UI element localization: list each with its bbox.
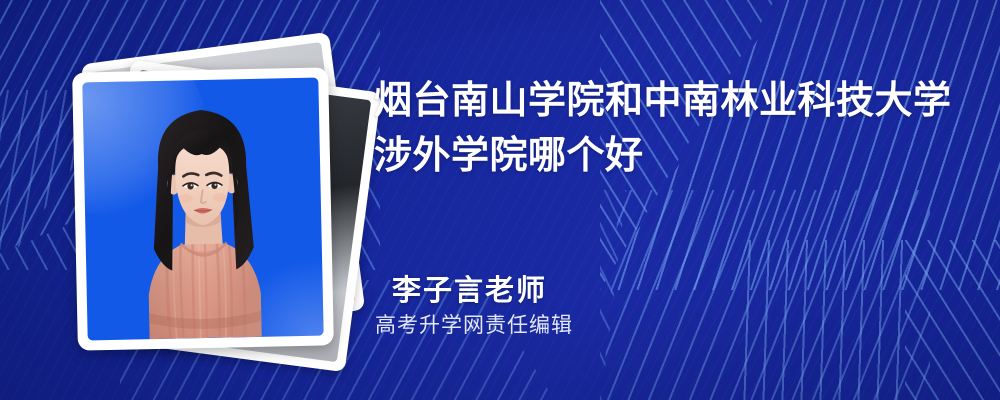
photo-card-front [72,67,334,350]
photo-card-stack [60,45,350,355]
portrait-illustration [82,78,323,341]
page-title: 烟台南山学院和中南林业科技大学 涉外学院哪个好 [374,74,964,184]
author-role: 高考升学网责任编辑 [374,310,894,342]
portrait-photo [82,78,323,341]
headline-line-2: 涉外学院哪个好 [374,129,964,184]
byline: 李子言老师 高考升学网责任编辑 [374,272,894,342]
promo-banner: 烟台南山学院和中南林业科技大学 涉外学院哪个好 李子言老师 高考升学网责任编辑 [0,0,1000,400]
author-name: 李子言老师 [374,272,894,310]
headline-line-1: 烟台南山学院和中南林业科技大学 [374,74,964,129]
